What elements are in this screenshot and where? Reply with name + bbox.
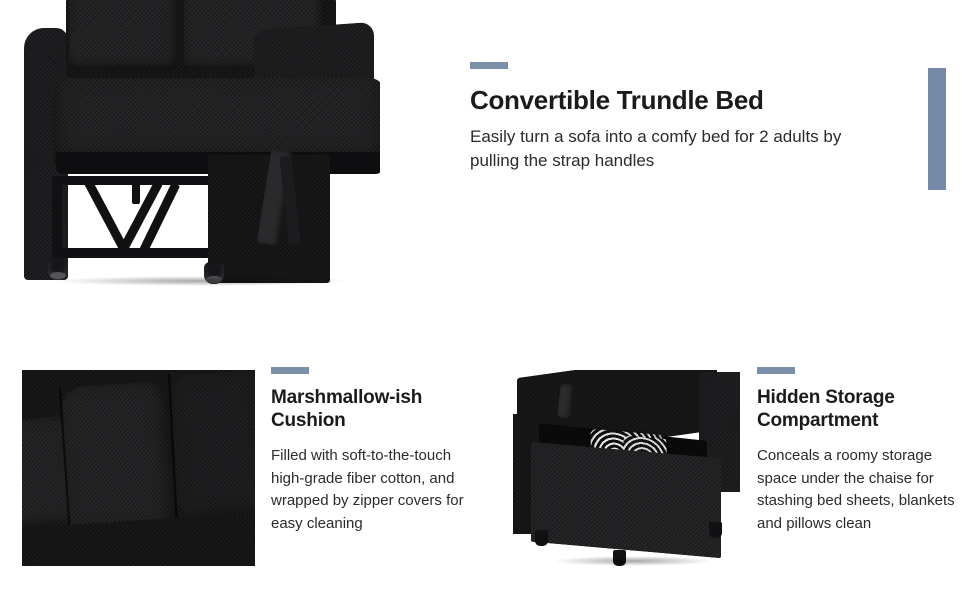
hero-title: Convertible Trundle Bed	[470, 85, 890, 116]
feature-accent-bar-cushion	[271, 367, 309, 374]
hero-accent-bar	[470, 62, 508, 69]
feature-title-cushion: Marshmallow-ish Cushion	[271, 387, 486, 433]
hero-photo-canvas	[22, 0, 380, 330]
cushion-right	[170, 370, 255, 525]
hero-product-photo	[22, 0, 380, 330]
hero-description: Easily turn a sofa into a comfy bed for …	[470, 125, 890, 173]
product-feature-page: Convertible Trundle Bed Easily turn a so…	[0, 0, 970, 600]
storage-floor-shadow	[553, 556, 713, 566]
feature-copy-cushion: Marshmallow-ish Cushion Filled with soft…	[271, 367, 486, 536]
feature-description-cushion: Filled with soft-to-the-touch high-grade…	[271, 445, 486, 537]
feature-title-storage: Hidden Storage Compartment	[757, 387, 964, 433]
storage-front-panel	[531, 442, 721, 559]
frame-support-post	[132, 182, 140, 204]
chaise-leg-right	[709, 522, 722, 538]
storage-photo-canvas	[513, 370, 740, 566]
hero-floor-shadow	[52, 276, 352, 286]
feature-photo-storage	[513, 370, 740, 566]
chaise-leg-left	[535, 530, 548, 546]
back-cushion-left	[69, 0, 179, 70]
cushion-photo-canvas	[22, 370, 255, 566]
right-edge-accent-bar	[928, 68, 946, 190]
hero-copy-block: Convertible Trundle Bed Easily turn a so…	[470, 62, 890, 173]
feature-copy-storage: Hidden Storage Compartment Conceals a ro…	[757, 367, 964, 536]
feature-accent-bar-storage	[757, 367, 795, 374]
cushion-center	[61, 380, 179, 537]
feature-description-storage: Conceals a roomy storage space under the…	[757, 445, 964, 537]
feature-photo-cushion	[22, 370, 255, 566]
